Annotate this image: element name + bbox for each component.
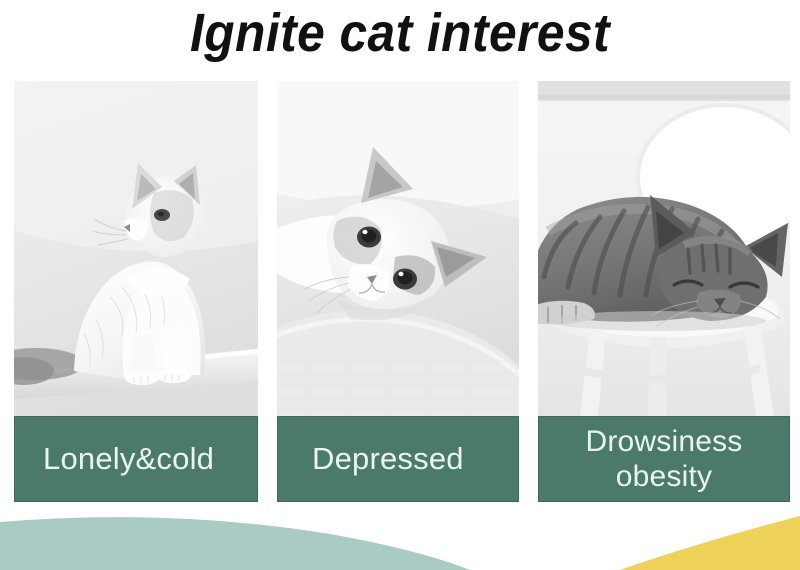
- yellow-wedge-shape: [620, 516, 800, 570]
- panel-2-caption-bar: Depressed: [277, 416, 519, 502]
- bottom-decoration: [0, 500, 800, 570]
- cat-lying-depressed-photo: [277, 81, 519, 416]
- promo-banner: Ignite cat interest: [0, 0, 800, 570]
- feature-panel-2: Depressed: [277, 81, 519, 502]
- feature-panel-1: Lonely&cold: [14, 81, 258, 502]
- panel-1-caption-bar: Lonely&cold: [14, 416, 258, 502]
- panel-3-caption-bar: Drowsiness obesity: [538, 416, 790, 502]
- panel-3-caption-text: Drowsiness obesity: [585, 424, 742, 494]
- panel-1-caption-text: Lonely&cold: [21, 441, 251, 477]
- sage-curve-shape: [0, 517, 470, 570]
- feature-panel-3: Drowsiness obesity: [538, 81, 790, 502]
- page-title: Ignite cat interest: [32, 2, 768, 64]
- panel-2-caption-text: Depressed: [284, 441, 512, 477]
- cat-sitting-lonely-photo: [14, 81, 258, 416]
- cat-sleeping-drowsy-photo: [538, 81, 790, 416]
